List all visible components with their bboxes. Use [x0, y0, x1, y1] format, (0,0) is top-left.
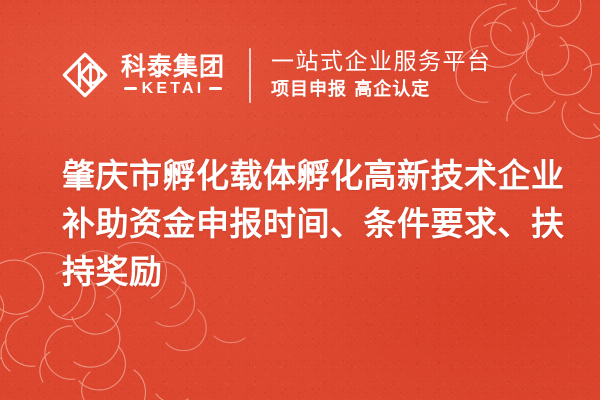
brand-wordmark: 科泰集团 KETAI — [121, 54, 225, 97]
brand-name-en: KETAI — [142, 81, 205, 97]
dash-icon — [209, 87, 222, 90]
tagline-block: 一站式企业服务平台 项目申报 高企认定 — [271, 50, 492, 99]
promotional-banner: 科泰集团 KETAI 一站式企业服务平台 项目申报 高企认定 肇庆市孵化载体孵化… — [0, 0, 600, 400]
ketai-diamond-kt-monogram-icon — [62, 52, 108, 98]
brand-name-en-row: KETAI — [121, 81, 225, 97]
dash-icon — [124, 87, 137, 90]
brand-logo-lockup[interactable]: 科泰集团 KETAI — [62, 52, 225, 98]
title-line-1: 肇庆市孵化载体孵化高新技术企业 — [62, 152, 558, 200]
title-line-2: 补助资金申报时间、条件要求、扶 — [62, 200, 558, 248]
brand-name-cn: 科泰集团 — [121, 54, 225, 79]
vertical-divider-icon — [249, 48, 251, 103]
tagline-secondary: 项目申报 高企认定 — [271, 81, 492, 100]
banner-header: 科泰集团 KETAI 一站式企业服务平台 项目申报 高企认定 — [62, 40, 542, 110]
tagline-primary: 一站式企业服务平台 — [271, 50, 492, 74]
page-title: 肇庆市孵化载体孵化高新技术企业 补助资金申报时间、条件要求、扶 持奖励 — [62, 152, 558, 296]
title-line-3: 持奖励 — [62, 248, 558, 296]
